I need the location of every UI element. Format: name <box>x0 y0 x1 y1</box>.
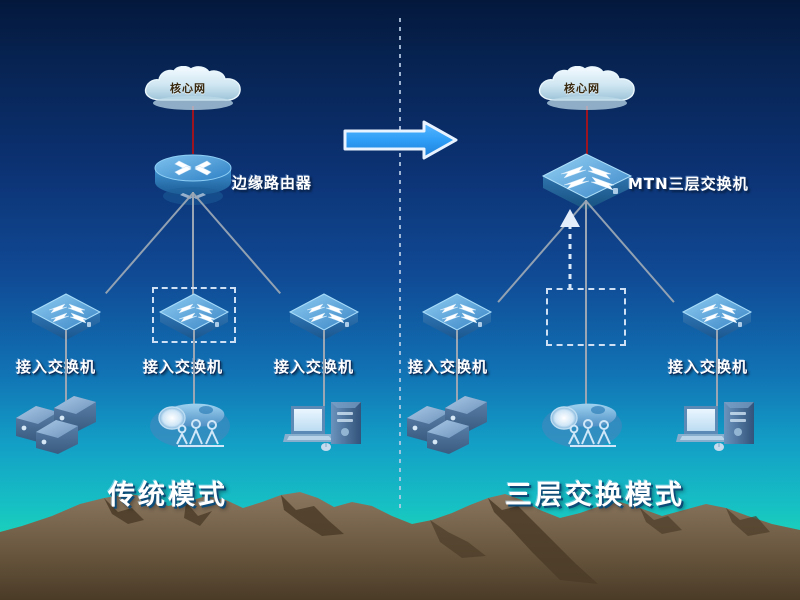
left-core-network-cloud: 核心网 <box>139 66 247 116</box>
right-empty-dashed-placeholder <box>546 288 626 346</box>
right-arrow <box>342 118 460 162</box>
left-access-switch-3-label: 接入交换机 <box>274 356 354 377</box>
left-access-switch-2-label: 接入交换机 <box>143 356 223 377</box>
right-core-network-cloud: 核心网 <box>533 66 641 116</box>
right-layer3-switch-label: MTN三层交换机 <box>628 173 749 194</box>
right-endpoint-meeting <box>540 396 632 458</box>
dashed-up-arrow <box>558 203 582 289</box>
laptop-desktop-icon <box>283 396 371 454</box>
projector-meeting-icon <box>148 396 240 454</box>
left-endpoint-workstation <box>283 396 371 458</box>
slide-canvas: 核心网 <box>0 0 800 600</box>
left-endpoint-servers <box>14 392 104 458</box>
server-stack-icon <box>14 392 104 454</box>
laptop-desktop-icon <box>676 396 764 454</box>
projector-meeting-icon <box>540 396 632 454</box>
left-access-switch-1-label: 接入交换机 <box>16 356 96 377</box>
right-panel-title: 三层交换模式 <box>505 473 685 512</box>
right-access-switch-3-label: 接入交换机 <box>668 356 748 377</box>
right-endpoint-servers <box>405 392 495 458</box>
right-cloud-label: 核心网 <box>564 80 600 96</box>
left-panel-title: 传统模式 <box>108 473 228 512</box>
left-cloud-label: 核心网 <box>170 80 206 96</box>
vertical-dotted-divider <box>399 18 401 510</box>
left-edge-router-label: 边缘路由器 <box>232 172 312 193</box>
right-access-switch-1-label: 接入交换机 <box>408 356 488 377</box>
right-endpoint-workstation <box>676 396 764 458</box>
server-stack-icon <box>405 392 495 454</box>
right-layer3-switch <box>539 150 635 216</box>
left-endpoint-meeting <box>148 396 240 458</box>
